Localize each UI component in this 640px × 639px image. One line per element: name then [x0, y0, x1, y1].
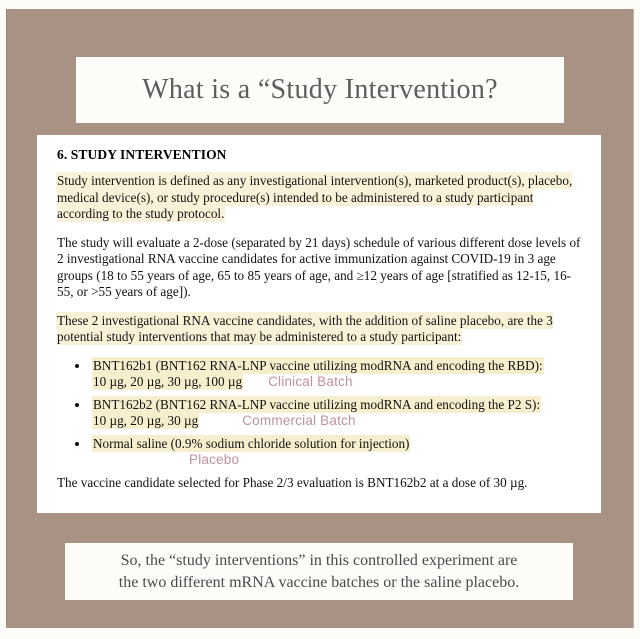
highlight-definition: Study intervention is defined as any inv…: [57, 173, 572, 221]
document-paragraph-study-design: The study will evaluate a 2-dose (separa…: [57, 235, 587, 301]
list-item: BNT162b1 (BNT162 RNA-LNP vaccine utilizi…: [57, 358, 587, 391]
highlight-interventions-intro: These 2 investigational RNA vaccine cand…: [57, 313, 553, 345]
title-card: What is a “Study Intervention?: [76, 57, 564, 123]
bullet-text-normal-saline: Normal saline (0.9% sodium chloride solu…: [93, 436, 409, 451]
dose-row-bnt162b1: 10 µg, 20 µg, 30 µg, 100 µgClinical Batc…: [93, 374, 587, 391]
list-item: BNT162b2 (BNT162 RNA-LNP vaccine utilizi…: [57, 397, 587, 430]
bullet-dot-icon: [75, 442, 79, 446]
intervention-list: BNT162b1 (BNT162 RNA-LNP vaccine utilizi…: [57, 358, 587, 469]
bullet-text-bnt162b1: BNT162b1 (BNT162 RNA-LNP vaccine utilizi…: [93, 358, 543, 373]
caption-line-2: the two different mRNA vaccine batches o…: [119, 572, 519, 594]
bullet-doses-bnt162b2: 10 µg, 20 µg, 30 µg: [93, 413, 198, 428]
page-title: What is a “Study Intervention?: [142, 74, 498, 106]
document-final-line: The vaccine candidate selected for Phase…: [57, 475, 587, 492]
bullet-dot-icon: [75, 403, 79, 407]
document-section-heading: 6. STUDY INTERVENTION: [57, 147, 587, 163]
slide-root: What is a “Study Intervention? 6. STUDY …: [0, 0, 640, 639]
document-panel: 6. STUDY INTERVENTION Study intervention…: [37, 135, 601, 513]
bullet-dot-icon: [75, 364, 79, 368]
caption-line-1: So, the “study interventions” in this co…: [121, 550, 518, 572]
annotation-commercial-batch: Commercial Batch: [242, 413, 355, 428]
list-item: Normal saline (0.9% sodium chloride solu…: [57, 436, 587, 469]
annotation-placebo: Placebo: [189, 452, 239, 467]
bullet-text-bnt162b2: BNT162b2 (BNT162 RNA-LNP vaccine utilizi…: [93, 397, 540, 412]
caption-card: So, the “study interventions” in this co…: [65, 543, 573, 600]
document-paragraph-interventions-intro: These 2 investigational RNA vaccine cand…: [57, 313, 587, 346]
dose-row-bnt162b2: 10 µg, 20 µg, 30 µgCommercial Batch: [93, 413, 587, 430]
dose-row-normal-saline: Placebo: [93, 452, 587, 469]
bullet-doses-bnt162b1: 10 µg, 20 µg, 30 µg, 100 µg: [93, 374, 242, 389]
document-paragraph-definition: Study intervention is defined as any inv…: [57, 173, 587, 223]
annotation-clinical-batch: Clinical Batch: [268, 374, 353, 389]
